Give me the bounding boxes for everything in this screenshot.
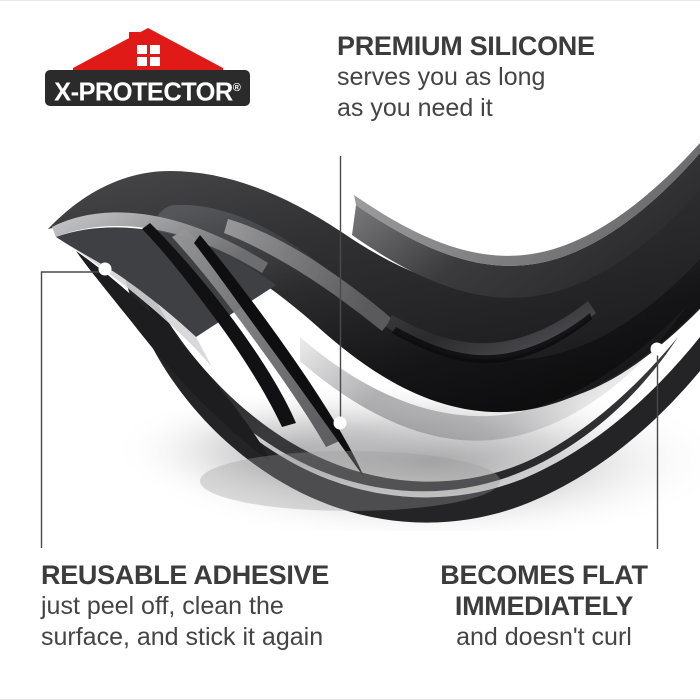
feature-flat-headline-line-2: IMMEDIATELY (415, 591, 673, 622)
feature-premium-headline: PREMIUM SILICONE (337, 31, 595, 62)
logo-wordmark: X-PROTECTOR® (45, 70, 250, 106)
feature-premium-line-1: serves you as long (337, 62, 595, 93)
product-marketing-image: X-PROTECTOR® PREMIUM SILICONE serves you… (0, 0, 700, 700)
feature-reusable-adhesive: REUSABLE ADHESIVE just peel off, clean t… (41, 560, 329, 653)
feature-premium-silicone: PREMIUM SILICONE serves you as long as y… (337, 31, 595, 124)
registered-mark: ® (233, 82, 241, 94)
feature-reusable-line-1: just peel off, clean the (41, 591, 329, 622)
brand-logo: X-PROTECTOR® (45, 28, 250, 106)
feature-reusable-headline: REUSABLE ADHESIVE (41, 560, 329, 591)
feature-premium-line-2: as you need it (337, 93, 595, 124)
feature-flat-headline-line-1: BECOMES FLAT (415, 560, 673, 591)
logo-wordmark-text: X-PROTECTOR (54, 79, 233, 107)
feature-becomes-flat: BECOMES FLAT IMMEDIATELY and doesn't cur… (415, 560, 673, 653)
feature-reusable-line-2: surface, and stick it again (41, 622, 329, 653)
strip-contact-shadow (200, 451, 500, 511)
house-roof-icon (73, 28, 223, 72)
feature-flat-line-1: and doesn't curl (415, 622, 673, 653)
silicone-strip-illustration (0, 131, 700, 531)
